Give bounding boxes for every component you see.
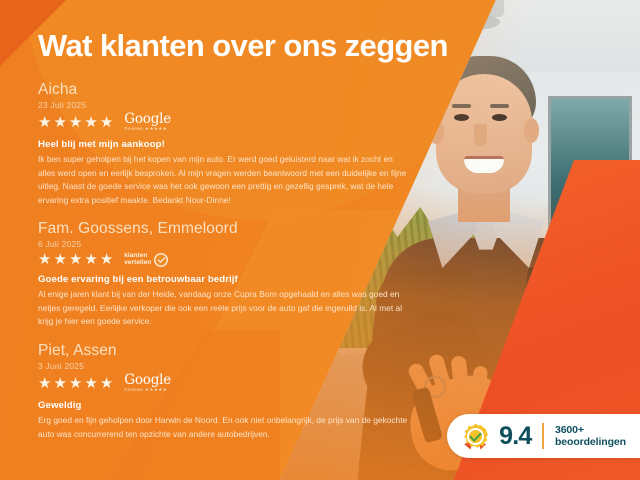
star-rating: ★ ★ ★ ★ ★: [38, 376, 113, 391]
star-icon: ★: [69, 115, 82, 130]
star-icon: ★: [53, 376, 66, 391]
review-body: Ik ben super geholpen bij het kopen van …: [38, 153, 410, 207]
klantenvertellen-badge: klanten vertellen: [124, 253, 168, 267]
star-icon: ★: [84, 252, 97, 267]
score-value: 9.4: [499, 424, 531, 449]
divider: [542, 423, 544, 449]
review-date: 23 Juli 2025: [38, 100, 423, 110]
star-rating: ★ ★ ★ ★ ★: [38, 115, 113, 130]
review-author: Piet, Assen: [38, 342, 423, 360]
google-reviews-label: Reviews: [124, 388, 143, 393]
review-date: 3 Juni 2025: [38, 361, 423, 371]
review-body: Al enige jaren klant bij van der Heide, …: [38, 288, 410, 329]
klantenvertellen-seal-icon: [463, 424, 488, 449]
review-author: Aicha: [38, 81, 423, 99]
overall-score-badge: 9.4 3600+ beoordelingen: [447, 414, 640, 458]
star-icon: ★: [69, 252, 82, 267]
review-card: Piet, Assen 3 Juni 2025 ★ ★ ★ ★ ★ Google…: [38, 342, 423, 441]
star-icon: ★: [38, 252, 51, 267]
testimonials-banner: VDH: [0, 0, 640, 480]
star-rating: ★ ★ ★ ★ ★: [38, 252, 113, 267]
star-icon: ★: [100, 252, 113, 267]
star-icon: ★: [84, 376, 97, 391]
review-card: Fam. Goossens, Emmeloord 6 Juli 2025 ★ ★…: [38, 220, 423, 329]
star-icon: ★: [38, 376, 51, 391]
star-icon: ★: [53, 115, 66, 130]
star-icon: ★: [100, 376, 113, 391]
review-title: Geweldig: [38, 400, 423, 411]
star-icon: ★: [53, 252, 66, 267]
review-card: Aicha 23 Juli 2025 ★ ★ ★ ★ ★ Google Revi…: [38, 81, 423, 207]
google-reviews-label: Reviews: [124, 127, 143, 132]
star-icon: ★: [84, 115, 97, 130]
review-author: Fam. Goossens, Emmeloord: [38, 220, 423, 238]
rating-row: ★ ★ ★ ★ ★ Google Reviews ★★★★★: [38, 374, 423, 393]
klantenvertellen-label-line2: vertellen: [124, 260, 151, 267]
content-column: Wat klanten over ons zeggen Aicha 23 Jul…: [0, 0, 640, 480]
rating-row: ★ ★ ★ ★ ★ klanten vertellen: [38, 252, 423, 267]
star-icon: ★: [69, 376, 82, 391]
review-count-label: beoordelingen: [555, 436, 626, 448]
google-wordmark: Google: [124, 374, 171, 388]
star-icon: ★: [38, 115, 51, 130]
review-count: 3600+: [555, 424, 626, 436]
checkmark-seal-icon: [154, 253, 168, 267]
google-wordmark: Google: [124, 113, 171, 127]
page-title: Wat klanten over ons zeggen: [38, 30, 640, 61]
google-reviews-badge: Google Reviews ★★★★★: [124, 374, 171, 393]
google-badge-stars-icon: ★★★★★: [145, 388, 167, 393]
review-date: 6 Juli 2025: [38, 239, 423, 249]
review-body: Erg goed en fijn geholpen door Harwin de…: [38, 414, 410, 441]
google-reviews-badge: Google Reviews ★★★★★: [124, 113, 171, 132]
star-icon: ★: [100, 115, 113, 130]
google-badge-stars-icon: ★★★★★: [145, 127, 167, 132]
review-title: Goede ervaring bij een betrouwbaar bedri…: [38, 274, 423, 285]
rating-row: ★ ★ ★ ★ ★ Google Reviews ★★★★★: [38, 113, 423, 132]
review-title: Heel blij met mijn aankoop!: [38, 139, 423, 150]
